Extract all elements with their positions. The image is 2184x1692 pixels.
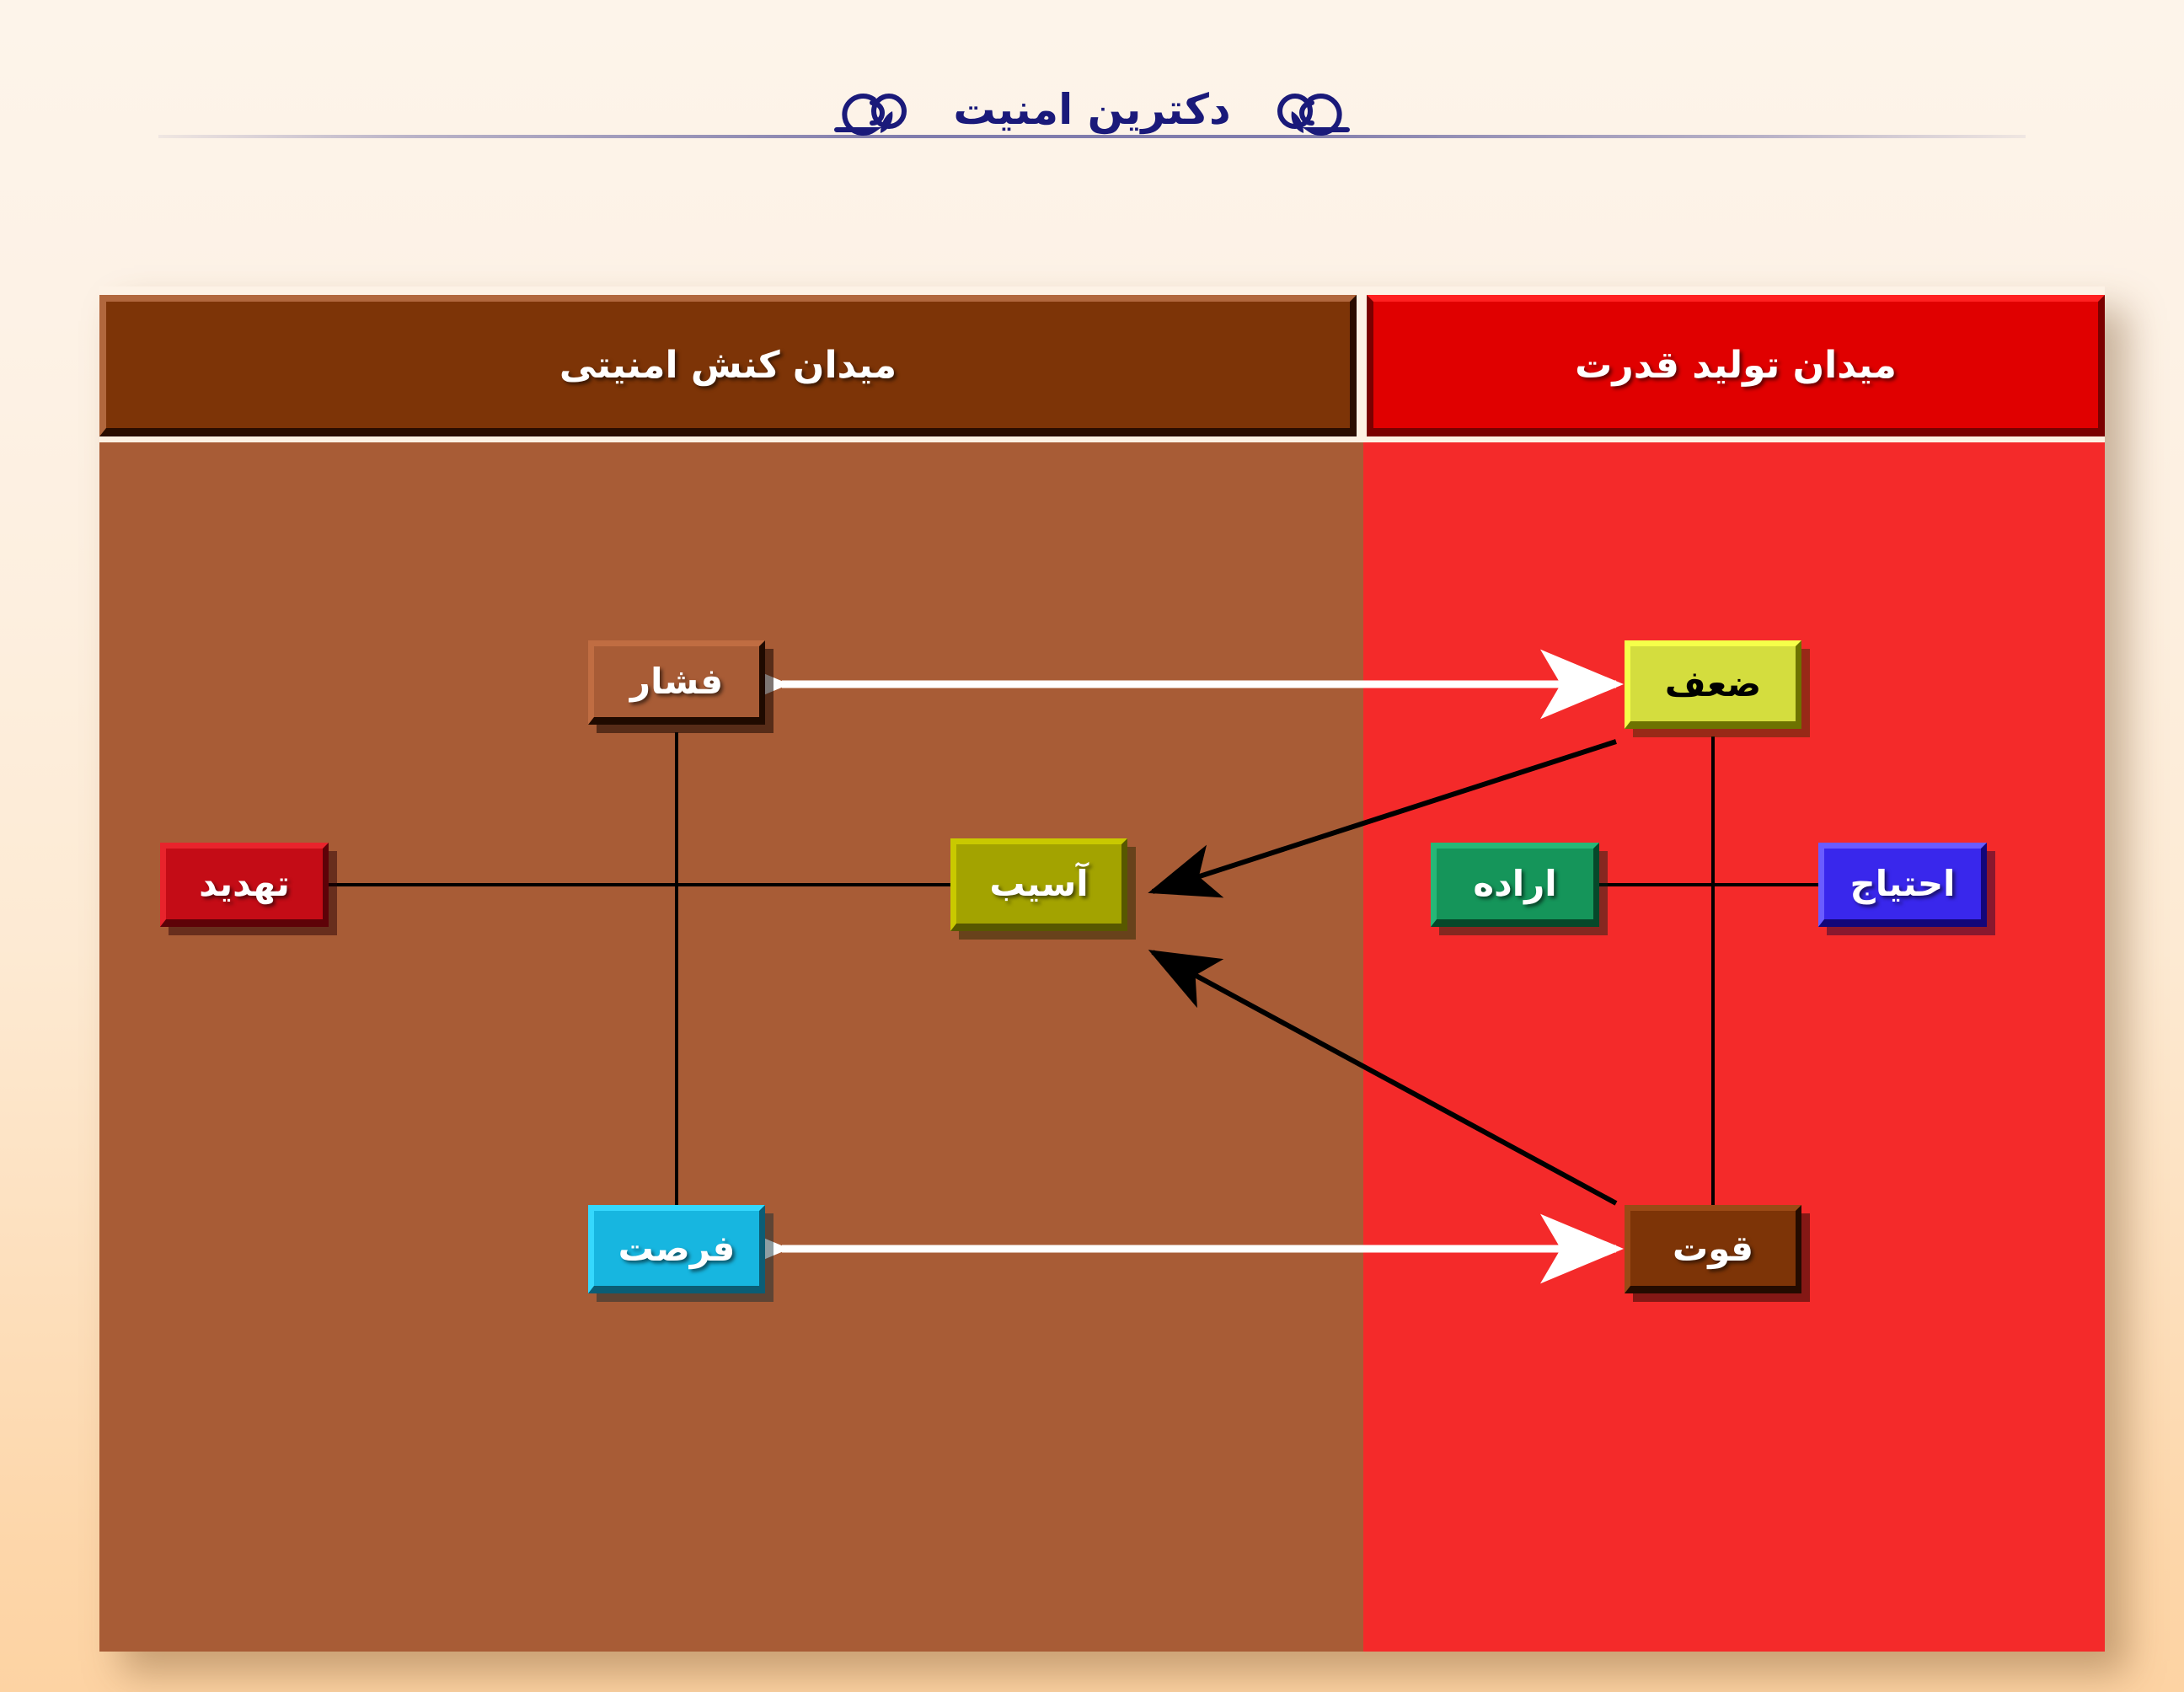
node-zaaf[interactable]: ضعف	[1625, 640, 1801, 729]
node-forsat[interactable]: فرصت	[588, 1205, 765, 1293]
title-divider	[158, 135, 2026, 138]
node-asib[interactable]: آسیب	[950, 838, 1127, 931]
doctrine-board: میدان کنش امنیتی میدان تولید قدرت	[99, 286, 2105, 1652]
panel-power-generation-field-body	[1363, 442, 2105, 1652]
node-feshar-label: فشار	[630, 664, 723, 699]
panel-security-action-field-header: میدان کنش امنیتی	[99, 295, 1357, 436]
node-ghovvat[interactable]: قوت	[1625, 1205, 1801, 1293]
node-zaaf-label: ضعف	[1665, 667, 1761, 702]
node-asib-label: آسیب	[989, 866, 1088, 902]
node-ehtiyaj-label: احتیاج	[1850, 866, 1956, 902]
panel-power-generation-field-header: میدان تولید قدرت	[1367, 295, 2105, 436]
page-title: دکترین امنیت	[953, 88, 1230, 131]
node-feshar[interactable]: فشار	[588, 640, 765, 725]
node-ehtiyaj[interactable]: احتیاج	[1818, 843, 1987, 927]
node-tahdid-label: تهدید	[199, 866, 290, 902]
node-tahdid[interactable]: تهدید	[160, 843, 329, 927]
node-forsat-label: فرصت	[618, 1231, 736, 1266]
node-eradeh-label: اراده	[1473, 866, 1556, 902]
title-row: دکترین امنیت	[0, 67, 2184, 152]
panel-security-action-field: میدان کنش امنیتی	[99, 286, 1363, 1652]
page-header: دکترین امنیت	[0, 0, 2184, 169]
node-eradeh[interactable]: اراده	[1431, 843, 1599, 927]
node-ghovvat-label: قوت	[1673, 1231, 1753, 1266]
panel-power-generation-field: میدان تولید قدرت	[1363, 286, 2105, 1652]
panel-security-action-field-body	[99, 442, 1363, 1652]
